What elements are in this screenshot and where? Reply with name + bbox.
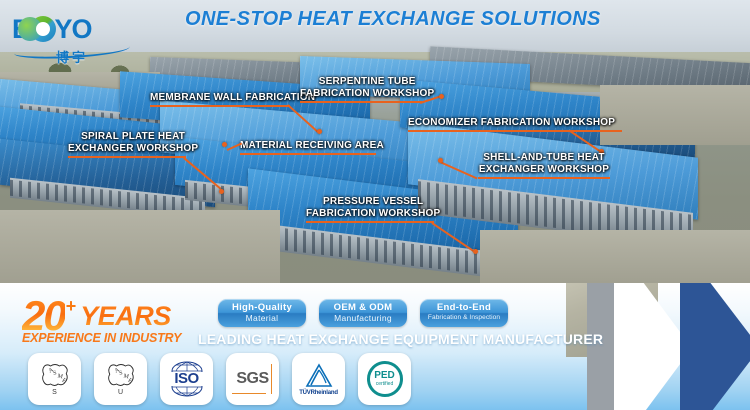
- feature-pills: High-Quality Material OEM & ODM Manufact…: [218, 299, 508, 327]
- experience-subtitle: EXPERIENCE IN INDUSTRY: [22, 331, 181, 345]
- cert-badge-sgs[interactable]: SGS: [226, 353, 279, 405]
- callout-material-receiving: MATERIAL RECEIVING AREA: [240, 140, 384, 155]
- callout-underline: [150, 105, 290, 107]
- experience-plus: +: [66, 297, 77, 315]
- pill-line2: Material: [220, 313, 304, 323]
- tuv-label: TÜVRheinland: [299, 390, 338, 396]
- experience-word: YEARS: [80, 297, 171, 335]
- tagline: LEADING HEAT EXCHANGE EQUIPMENT MANUFACT…: [198, 331, 603, 347]
- callout-economizer-text: ECONOMIZER FABRICATION WORKSHOP: [408, 117, 622, 129]
- pill-line1: High-Quality: [220, 302, 304, 313]
- cert-badge-tuv[interactable]: TÜVRheinland: [292, 353, 345, 405]
- callout-serpentine-tube: SERPENTINE TUBE FABRICATION WORKSHOP: [300, 76, 434, 103]
- callout-spiral-line1: SPIRAL PLATE HEAT: [68, 131, 198, 143]
- promo-banner: MEMBRANE WALL FABRICATION SERPENTINE TUB…: [0, 0, 750, 410]
- callout-underline: [478, 177, 610, 179]
- cert-badge-asme-u[interactable]: A S M E U: [94, 353, 147, 405]
- pill-line1: End-to-End: [422, 302, 506, 313]
- iso-icon: ISO: [170, 360, 204, 398]
- ped-icon: PED certified: [367, 361, 403, 397]
- callout-shell-line1: SHELL-AND-TUBE HEAT: [478, 152, 610, 164]
- asme-stamp-letter: S: [52, 389, 57, 396]
- yard-front: [0, 210, 280, 285]
- callout-dot: [219, 189, 224, 194]
- ped-label: PED: [374, 371, 395, 381]
- pill-line2: Fabrication & Inspection: [422, 313, 506, 323]
- callout-underline: [408, 130, 622, 132]
- ped-sublabel: certified: [376, 381, 394, 387]
- experience-number: 20: [22, 297, 65, 335]
- callout-dot: [439, 94, 444, 99]
- svg-text:S: S: [52, 370, 56, 376]
- asme-icon: A S M E: [40, 362, 70, 388]
- experience-years: 20 + YEARS: [22, 297, 171, 335]
- callout-dot: [473, 249, 478, 254]
- bottom-banner: 20 + YEARS EXPERIENCE IN INDUSTRY High-Q…: [0, 283, 750, 410]
- globe-icon-bottom: [170, 386, 204, 398]
- callout-shell-and-tube: SHELL-AND-TUBE HEAT EXCHANGER WORKSHOP: [478, 152, 610, 179]
- sgs-accent-line-v: [271, 364, 272, 394]
- callout-pressure-line1: PRESSURE VESSEL: [306, 196, 440, 208]
- callout-underline: [306, 221, 434, 223]
- callout-underline: [300, 101, 422, 103]
- callout-spiral-plate: SPIRAL PLATE HEAT EXCHANGER WORKSHOP: [68, 131, 198, 158]
- certification-badges: A S M E S A S M E: [28, 353, 411, 405]
- pill-line2: Manufacturing: [321, 313, 405, 323]
- callout-spiral-line2: EXCHANGER WORKSHOP: [68, 143, 198, 155]
- cert-badge-asme-s[interactable]: A S M E S: [28, 353, 81, 405]
- callout-dot: [317, 129, 322, 134]
- callout-underline: [240, 153, 376, 155]
- callout-membrane-wall: MEMBRANE WALL FABRICATION: [150, 92, 315, 107]
- callout-dot: [222, 142, 227, 147]
- callout-pressure-vessel: PRESSURE VESSEL FABRICATION WORKSHOP: [306, 196, 440, 223]
- callout-serpentine-line2: FABRICATION WORKSHOP: [300, 88, 434, 100]
- asme-scallop-shape: A S M E: [40, 362, 70, 388]
- asme-scallop-shape: A S M E: [106, 362, 136, 388]
- chevron-navy-icon: [680, 283, 750, 410]
- asme-stamp-letter: U: [118, 389, 123, 396]
- logo-text-right: YO: [55, 16, 92, 43]
- pill-high-quality[interactable]: High-Quality Material: [218, 299, 306, 327]
- asme-icon: A S M E: [106, 362, 136, 388]
- svg-text:S: S: [118, 370, 122, 376]
- callout-material-text: MATERIAL RECEIVING AREA: [240, 140, 384, 152]
- callout-underline: [68, 156, 186, 158]
- cert-badge-iso[interactable]: ISO: [160, 353, 213, 405]
- iso-label: ISO: [174, 372, 198, 386]
- callout-dot: [438, 158, 443, 163]
- tuv-triangle-icon: [304, 363, 334, 389]
- sgs-label: SGS: [236, 370, 268, 388]
- pill-line1: OEM & ODM: [321, 302, 405, 313]
- yard-front-right: [480, 230, 750, 285]
- yard-right: [600, 85, 750, 145]
- sgs-accent-line-h: [232, 393, 266, 394]
- callout-shell-line2: EXCHANGER WORKSHOP: [478, 164, 610, 176]
- cert-badge-ped[interactable]: PED certified: [358, 353, 411, 405]
- callout-economizer: ECONOMIZER FABRICATION WORKSHOP: [408, 117, 622, 132]
- callout-pressure-line2: FABRICATION WORKSHOP: [306, 208, 440, 220]
- company-logo[interactable]: B YO 博宇: [12, 12, 132, 64]
- headline: ONE-STOP HEAT EXCHANGE SOLUTIONS: [185, 8, 601, 31]
- pill-end-to-end[interactable]: End-to-End Fabrication & Inspection: [420, 299, 508, 327]
- logo-circle-icon: [30, 16, 56, 42]
- callout-serpentine-line1: SERPENTINE TUBE: [300, 76, 434, 88]
- sgs-icon: SGS: [236, 370, 268, 388]
- pill-oem-odm[interactable]: OEM & ODM Manufacturing: [319, 299, 407, 327]
- callout-membrane-wall-text: MEMBRANE WALL FABRICATION: [150, 92, 315, 104]
